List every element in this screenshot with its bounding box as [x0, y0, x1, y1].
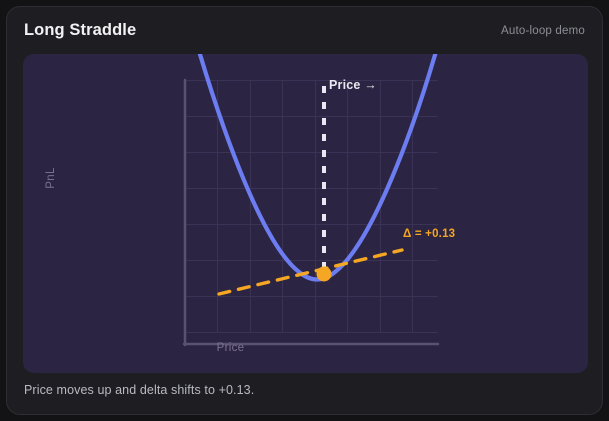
delta-tangent-line: [219, 250, 402, 294]
page-title: Long Straddle: [24, 21, 136, 40]
status-badge: Auto-loop demo: [501, 25, 585, 37]
x-axis-label: Price: [23, 342, 438, 354]
card-header: Long Straddle Auto-loop demo: [7, 7, 602, 54]
y-axis-label: PnL: [45, 148, 57, 208]
price-marker-label: Price →: [329, 78, 377, 92]
payoff-curve: [194, 54, 441, 280]
delta-value-label: Δ = +0.13: [403, 228, 455, 240]
straddle-card: Long Straddle Auto-loop demo: [6, 6, 603, 415]
chart-panel: PnL Price Price → Δ = +0.13: [23, 54, 588, 373]
delta-point-marker: [317, 267, 332, 282]
payoff-chart: [23, 54, 588, 373]
card-caption: Price moves up and delta shifts to +0.13…: [24, 383, 254, 397]
